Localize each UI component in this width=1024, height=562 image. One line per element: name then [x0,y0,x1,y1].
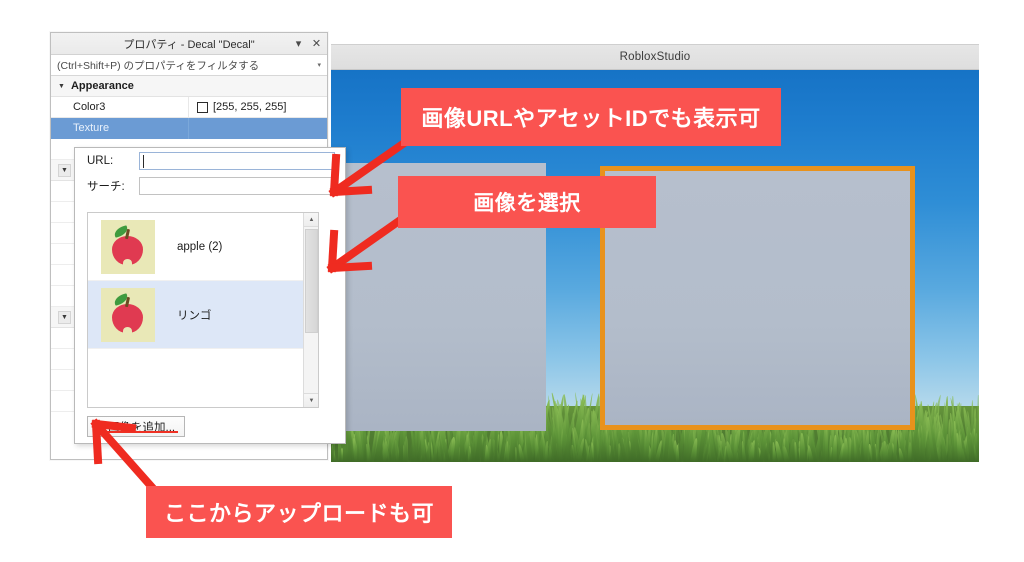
annotation-upload-note: ここからアップロードも可 [146,486,452,538]
property-filter-input[interactable]: (Ctrl+Shift+P) のプロパティをフィルタする [57,58,317,73]
screenshot-root: RobloxStudio プロパティ - Decal "Decal" ▾ ✕ (… [0,0,1024,562]
apple-thumbnail-icon [101,288,155,342]
scroll-down-arrow-icon[interactable]: ▼ [304,393,319,407]
list-item[interactable]: apple (2) [88,213,318,281]
annotation-url-note: 画像URLやアセットIDでも表示可 [401,88,781,146]
property-row-color3[interactable]: Color3 [255, 255, 255] [51,97,327,118]
scrollbar-thumb[interactable] [305,229,318,333]
search-input[interactable] [139,177,335,195]
list-item-empty [88,349,318,408]
scroll-up-arrow-icon[interactable]: ▲ [304,213,319,227]
caret-down-icon[interactable]: ▾ [317,61,323,69]
url-input[interactable] [139,152,335,170]
property-row-texture[interactable]: Texture [51,118,327,139]
image-list[interactable]: apple (2) リンゴ ▲ ▼ [87,212,319,408]
text-caret [143,155,144,168]
chevron-down-icon[interactable]: ▾ [293,39,304,50]
apple-notch [123,327,132,335]
properties-panel-header: プロパティ - Decal "Decal" ▾ ✕ [51,33,327,55]
property-group-appearance[interactable]: ▼ Appearance [51,76,327,97]
property-filter-bar[interactable]: (Ctrl+Shift+P) のプロパティをフィルタする ▾ [51,55,327,76]
annotation-text: 画像を選択 [473,187,581,217]
annotation-select-note: 画像を選択 [398,176,656,228]
list-item-label: apple (2) [177,241,222,253]
panel-header-buttons: ▾ ✕ [293,33,322,55]
grass-blade [832,435,836,462]
triangle-down-icon[interactable]: ▼ [58,311,71,324]
url-label: URL: [87,155,139,167]
property-group-label: Appearance [71,80,134,92]
search-field-row: サーチ: [75,173,345,198]
apple-thumbnail-icon [101,220,155,274]
window-title: RobloxStudio [620,51,691,63]
property-name: Color3 [51,97,189,118]
list-item[interactable]: リンゴ [88,281,318,349]
close-icon[interactable]: ✕ [311,39,322,50]
list-item-label: リンゴ [177,307,212,323]
triangle-down-icon[interactable]: ▼ [58,83,65,90]
property-name: Texture [51,118,189,139]
url-field-row: URL: [75,148,345,173]
annotation-text: ここからアップロードも可 [164,496,434,528]
property-value-text: [255, 255, 255] [213,101,286,113]
triangle-down-icon[interactable]: ▼ [58,164,71,177]
window-titlebar: RobloxStudio [331,45,979,70]
search-label: サーチ: [87,178,139,194]
color-swatch-icon[interactable] [197,102,208,113]
apple-notch [123,259,132,267]
panel-title: プロパティ - Decal "Decal" [123,36,254,52]
property-value-cell[interactable] [189,118,327,139]
annotation-text: 画像URLやアセットIDでも表示可 [421,101,760,133]
property-value-cell[interactable]: [255, 255, 255] [189,97,327,118]
texture-picker-popup: URL: サーチ: apple (2) [74,147,346,444]
image-list-scrollbar[interactable]: ▲ ▼ [303,213,318,407]
